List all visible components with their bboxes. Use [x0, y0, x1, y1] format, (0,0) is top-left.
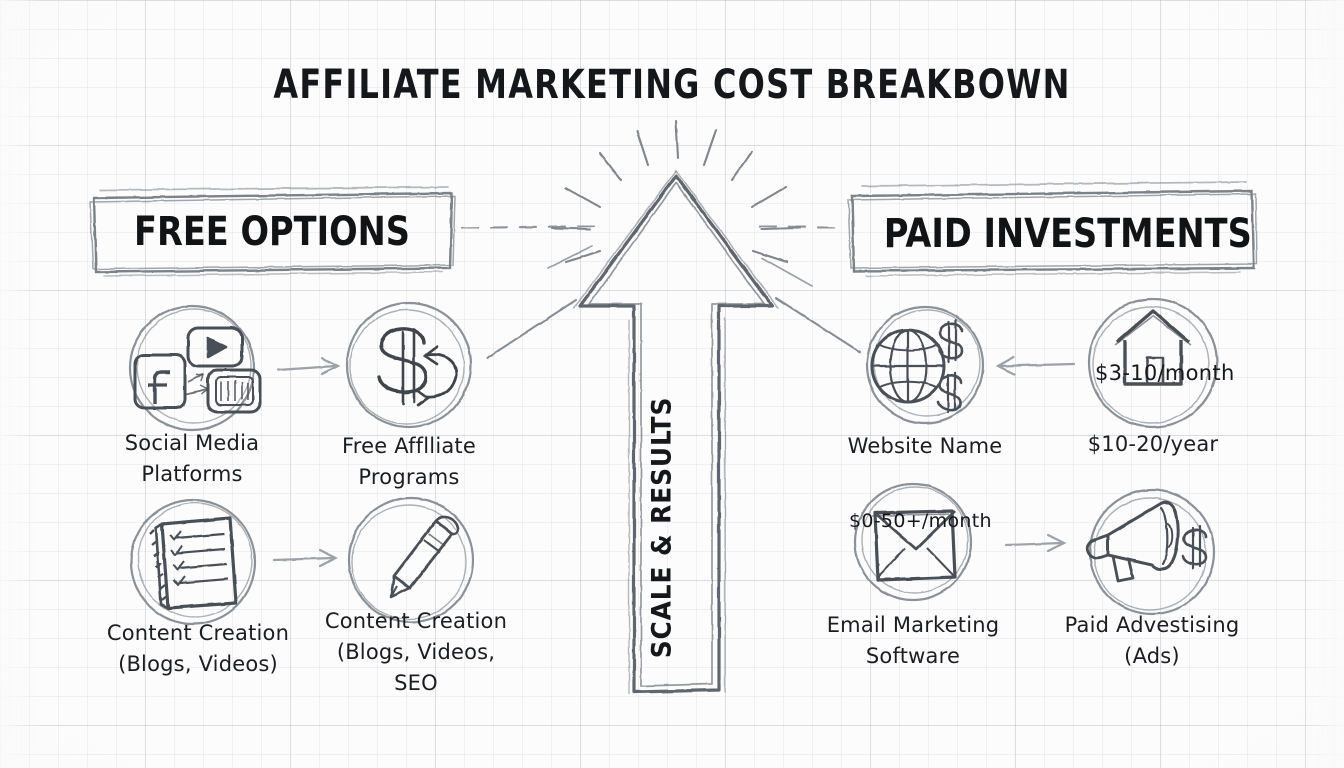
node-email-marketing[interactable]: $0-50+/month Email Marketing Software — [783, 482, 1043, 692]
email-price-badge: $0-50+/month — [849, 510, 992, 532]
node-label: Email Marketing Software — [783, 610, 1043, 672]
node-label: Website Name — [795, 431, 1055, 462]
scale-results-caption: SCALE & RESULTS — [647, 382, 677, 672]
free-header-dash — [462, 226, 596, 228]
hosting-price-badge: $3-10/month — [1095, 361, 1235, 385]
scale-results-label: SCALE & RESULTS — [647, 396, 678, 658]
page-title: AFFILIATE MARKETING COST BREAKBOWN — [134, 62, 1209, 108]
section-header-free-options: FREE OPTIONS — [121, 203, 423, 261]
node-label: Paid Advestising (Ads) — [1022, 610, 1282, 672]
node-free-affiliate[interactable]: Free Afflliate Programs — [279, 303, 539, 513]
node-hosting[interactable]: $3-10/month $10-20/year — [1023, 301, 1283, 501]
node-label: Content Creation (Blogs, Videos, SEO — [281, 606, 551, 699]
node-paid-ads[interactable]: Paid Advestising (Ads) — [1022, 492, 1282, 702]
infographic-canvas: AFFILIATE MARKETING COST BREAKBOWN FREE … — [0, 0, 1344, 768]
sparkle-rays-icon — [552, 121, 800, 262]
paid-header-dash — [760, 226, 842, 228]
node-label: $10-20/year — [1023, 429, 1283, 460]
node-content-creation-right[interactable]: Content Creation (Blogs, Videos, SEO — [281, 498, 551, 708]
node-website-name[interactable]: Website Name — [795, 303, 1055, 503]
node-label: Free Afflliate Programs — [279, 431, 539, 493]
section-header-paid-investments: PAID INVESTMENTS — [884, 205, 1218, 263]
